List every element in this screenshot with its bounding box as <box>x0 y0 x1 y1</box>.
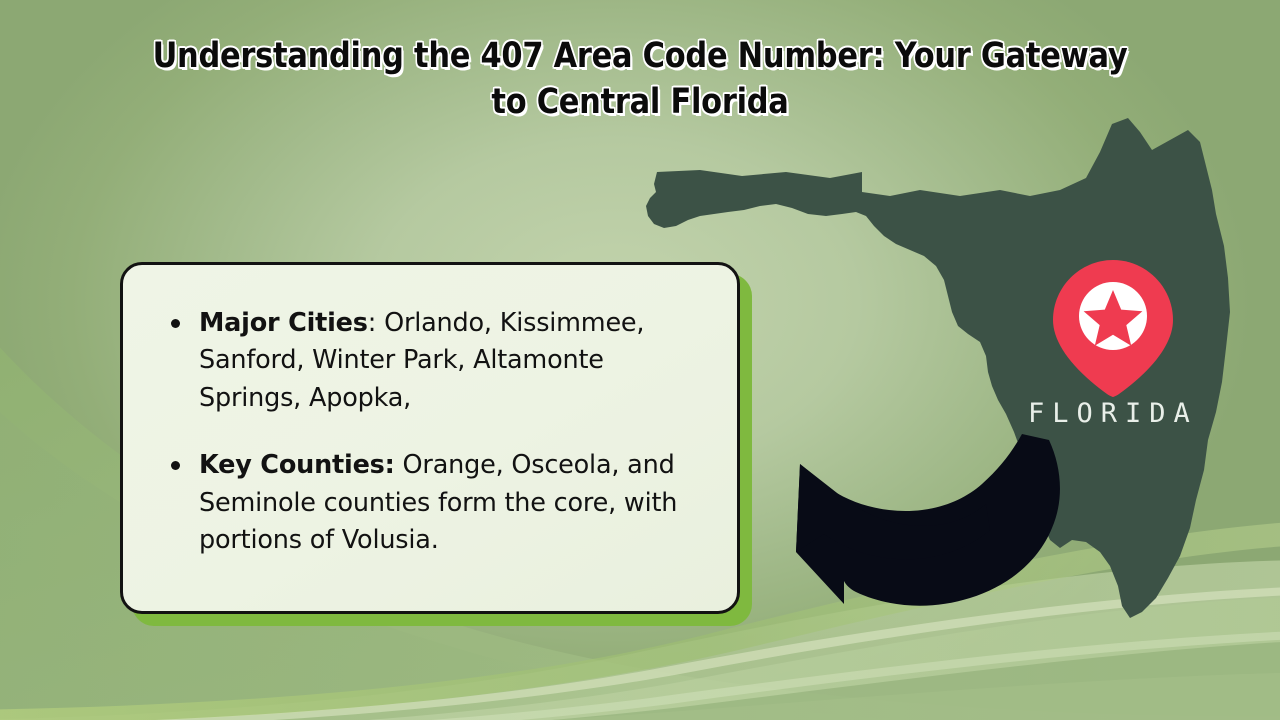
info-bullet-list: Major Cities: Orlando, Kissimmee, Sanfor… <box>163 305 703 560</box>
infographic-canvas: Understanding the 407 Area Code Number: … <box>0 0 1280 720</box>
bullet-separator-major-cities: : <box>368 308 376 338</box>
content-card: Major Cities: Orlando, Kissimmee, Sanfor… <box>120 262 740 614</box>
map-pin-star-icon <box>1051 258 1175 398</box>
state-name-label: FLORIDA <box>1028 398 1198 429</box>
curved-arrow-icon <box>786 428 1082 614</box>
page-title: Understanding the 407 Area Code Number: … <box>144 33 1136 125</box>
list-item: Major Cities: Orlando, Kissimmee, Sanfor… <box>163 305 703 417</box>
page-title-container: Understanding the 407 Area Code Number: … <box>0 33 1280 125</box>
bullet-label-key-counties: Key Counties: <box>199 450 395 480</box>
list-item: Key Counties: Orange, Osceola, and Semin… <box>163 447 703 559</box>
bullet-label-major-cities: Major Cities <box>199 308 368 338</box>
